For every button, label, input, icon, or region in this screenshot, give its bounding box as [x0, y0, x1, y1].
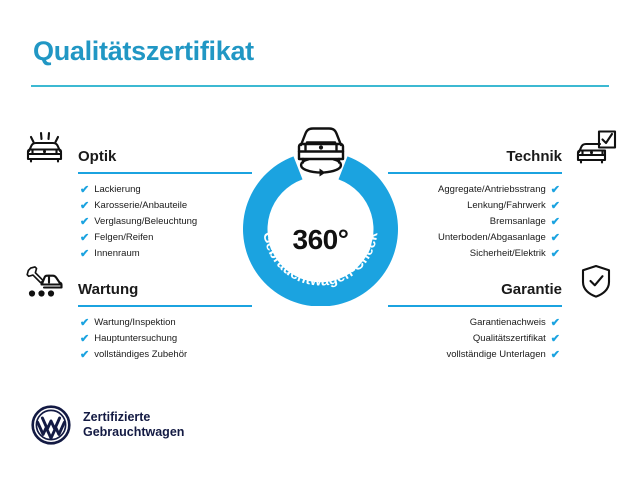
check-icon: ✔ — [80, 217, 89, 228]
list-item: ✔Karosserie/Anbauteile — [80, 198, 252, 214]
list-item: ✔vollständiges Zubehör — [80, 347, 252, 363]
list-item-label: vollständiges Zubehör — [94, 347, 187, 363]
check-icon: ✔ — [80, 233, 89, 244]
list-item-label: Garantienachweis — [470, 315, 546, 331]
vw-lockup-line1: Zertifizierte — [83, 410, 184, 425]
shield-check-icon — [574, 261, 618, 301]
list-item: ✔Qualitätszertifikat — [388, 331, 560, 347]
wrench-car-icon — [22, 261, 66, 301]
checklist-garantie: ✔Garantienachweis ✔Qualitätszertifikat ✔… — [388, 315, 618, 363]
section-divider-optik — [78, 172, 252, 174]
badge-360-gebrauchtwagen-check: Gebrauchtwagen-Check 360° — [243, 121, 398, 306]
check-icon: ✔ — [551, 350, 560, 361]
car-shine-icon — [22, 128, 66, 168]
check-icon: ✔ — [551, 217, 560, 228]
list-item-label: Karosserie/Anbauteile — [94, 198, 187, 214]
vw-certified-lockup: Zertifizierte Gebrauchtwagen — [31, 405, 184, 445]
section-title-technik: Technik — [506, 149, 562, 168]
list-item: ✔Unterboden/Abgasanlage — [388, 230, 560, 246]
section-divider-garantie — [388, 305, 562, 307]
check-icon: ✔ — [551, 334, 560, 345]
list-item-label: Hauptuntersuchung — [94, 331, 177, 347]
list-item: ✔Felgen/Reifen — [80, 230, 252, 246]
list-item: ✔Bremsanlage — [388, 214, 560, 230]
check-icon: ✔ — [80, 201, 89, 212]
check-icon: ✔ — [80, 249, 89, 260]
checklist-optik: ✔Lackierung ✔Karosserie/Anbauteile ✔Verg… — [22, 182, 252, 262]
list-item-label: Verglasung/Beleuchtung — [94, 214, 197, 230]
list-item: ✔Lackierung — [80, 182, 252, 198]
list-item: ✔Verglasung/Beleuchtung — [80, 214, 252, 230]
check-icon: ✔ — [80, 318, 89, 329]
checklist-technik: ✔Aggregate/Antriebsstrang ✔Lenkung/Fahrw… — [388, 182, 618, 262]
car-rotate-icon — [288, 121, 354, 183]
check-icon: ✔ — [551, 249, 560, 260]
section-technik: Technik — [388, 126, 618, 262]
section-divider-wartung — [78, 305, 252, 307]
list-item-label: Bremsanlage — [490, 214, 546, 230]
list-item-label: Lenkung/Fahrwerk — [467, 198, 546, 214]
list-item: ✔Hauptuntersuchung — [80, 331, 252, 347]
section-garantie: Garantie ✔Garantienachweis ✔Qualitätszer… — [388, 259, 618, 363]
section-wartung: Wartung ✔Wartung/Inspektion ✔Hauptunters… — [22, 259, 252, 363]
list-item-label: Felgen/Reifen — [94, 230, 153, 246]
certificate-page: Qualitätszertifikat — [0, 0, 640, 480]
check-icon: ✔ — [80, 185, 89, 196]
check-icon: ✔ — [551, 185, 560, 196]
list-item-label: Aggregate/Antriebsstrang — [438, 182, 546, 198]
list-item: ✔vollständige Unterlagen — [388, 347, 560, 363]
page-title: Qualitätszertifikat — [33, 36, 254, 67]
list-item: ✔Aggregate/Antriebsstrang — [388, 182, 560, 198]
check-icon: ✔ — [80, 334, 89, 345]
list-item-label: Wartung/Inspektion — [94, 315, 176, 331]
list-item-label: vollständige Unterlagen — [446, 347, 545, 363]
header-divider — [31, 85, 609, 87]
section-divider-technik — [388, 172, 562, 174]
check-icon: ✔ — [80, 350, 89, 361]
vw-lockup-line2: Gebrauchtwagen — [83, 425, 184, 440]
list-item: ✔Lenkung/Fahrwerk — [388, 198, 560, 214]
list-item: ✔Garantienachweis — [388, 315, 560, 331]
check-icon: ✔ — [551, 318, 560, 329]
vw-lockup-text: Zertifizierte Gebrauchtwagen — [83, 410, 184, 440]
checklist-wartung: ✔Wartung/Inspektion ✔Hauptuntersuchung ✔… — [22, 315, 252, 363]
section-title-garantie: Garantie — [501, 282, 562, 301]
list-item: ✔Wartung/Inspektion — [80, 315, 252, 331]
section-optik: Optik ✔Lackierung ✔Karosserie/Anbauteile… — [22, 126, 252, 262]
check-icon: ✔ — [551, 233, 560, 244]
car-checkbox-icon — [574, 128, 618, 168]
list-item-label: Unterboden/Abgasanlage — [438, 230, 546, 246]
vw-logo — [31, 405, 71, 445]
list-item-label: Lackierung — [94, 182, 140, 198]
badge-center-label: 360° — [243, 224, 398, 256]
section-title-wartung: Wartung — [78, 282, 138, 301]
check-icon: ✔ — [551, 201, 560, 212]
list-item-label: Qualitätszertifikat — [473, 331, 546, 347]
section-title-optik: Optik — [78, 149, 116, 168]
